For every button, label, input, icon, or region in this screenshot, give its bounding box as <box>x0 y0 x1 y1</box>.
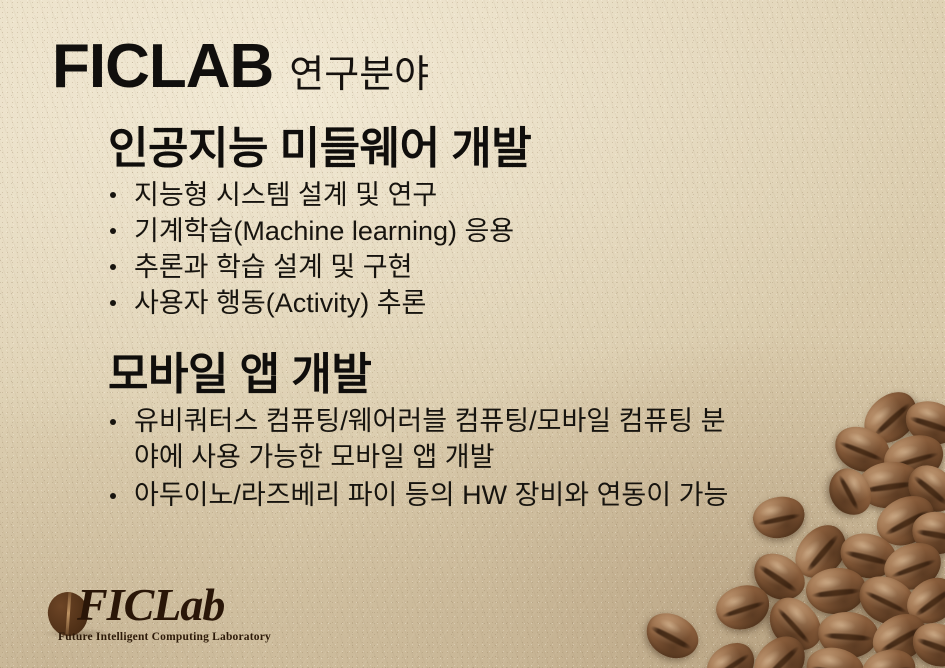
bullet-dot-icon <box>110 493 116 499</box>
list-item: 추론과 학습 설계 및 구현 <box>108 250 531 286</box>
list-item-label: 아두이노/라즈베리 파이 등의 HW 장비와 연동이 가능 <box>134 480 728 510</box>
page-title: FICLAB 연구분야 <box>52 36 429 98</box>
bullet-list: 지능형 시스템 설계 및 연구 기계학습(Machine learning) 응… <box>108 178 531 322</box>
section-mobile-app: 모바일 앱 개발 유비쿼터스 컴퓨팅/웨어러블 컴퓨팅/모바일 컴퓨팅 분야에 … <box>108 352 734 516</box>
bullet-dot-icon <box>110 264 116 270</box>
bullet-dot-icon <box>110 228 116 234</box>
bullet-dot-icon <box>110 419 116 425</box>
logo-tagline: Future Intelligent Computing Laboratory <box>58 631 271 643</box>
ficlab-logo: FICLab Future Intelligent Computing Labo… <box>22 584 234 646</box>
bullet-list: 유비쿼터스 컴퓨팅/웨어러블 컴퓨팅/모바일 컴퓨팅 분야에 사용 가능한 모바… <box>108 404 734 514</box>
title-main: FICLAB <box>52 36 273 98</box>
logo-wordmark: FICLab <box>77 582 224 628</box>
list-item: 사용자 행동(Activity) 추론 <box>108 286 531 322</box>
slide-content: FICLAB 연구분야 인공지능 미들웨어 개발 지능형 시스템 설계 및 연구… <box>0 0 945 668</box>
list-item: 기계학습(Machine learning) 응용 <box>108 214 531 250</box>
title-subtitle: 연구분야 <box>289 56 429 94</box>
list-item: 유비쿼터스 컴퓨팅/웨어러블 컴퓨팅/모바일 컴퓨팅 분야에 사용 가능한 모바… <box>108 404 734 476</box>
list-item: 아두이노/라즈베리 파이 등의 HW 장비와 연동이 가능 <box>108 478 734 514</box>
section-heading: 모바일 앱 개발 <box>108 352 734 398</box>
bullet-dot-icon <box>110 300 116 306</box>
section-heading: 인공지능 미들웨어 개발 <box>108 126 531 172</box>
list-item-label: 유비쿼터스 컴퓨팅/웨어러블 컴퓨팅/모바일 컴퓨팅 분야에 사용 가능한 모바… <box>134 406 726 472</box>
list-item-label: 지능형 시스템 설계 및 연구 <box>134 180 437 210</box>
section-ai-middleware: 인공지능 미들웨어 개발 지능형 시스템 설계 및 연구 기계학습(Machin… <box>108 126 531 322</box>
bullet-dot-icon <box>110 192 116 198</box>
list-item-label: 추론과 학습 설계 및 구현 <box>134 252 412 282</box>
list-item: 지능형 시스템 설계 및 연구 <box>108 178 531 214</box>
list-item-label: 사용자 행동(Activity) 추론 <box>134 288 426 318</box>
presentation-slide: FICLAB 연구분야 인공지능 미들웨어 개발 지능형 시스템 설계 및 연구… <box>0 0 945 668</box>
list-item-label: 기계학습(Machine learning) 응용 <box>134 216 514 246</box>
